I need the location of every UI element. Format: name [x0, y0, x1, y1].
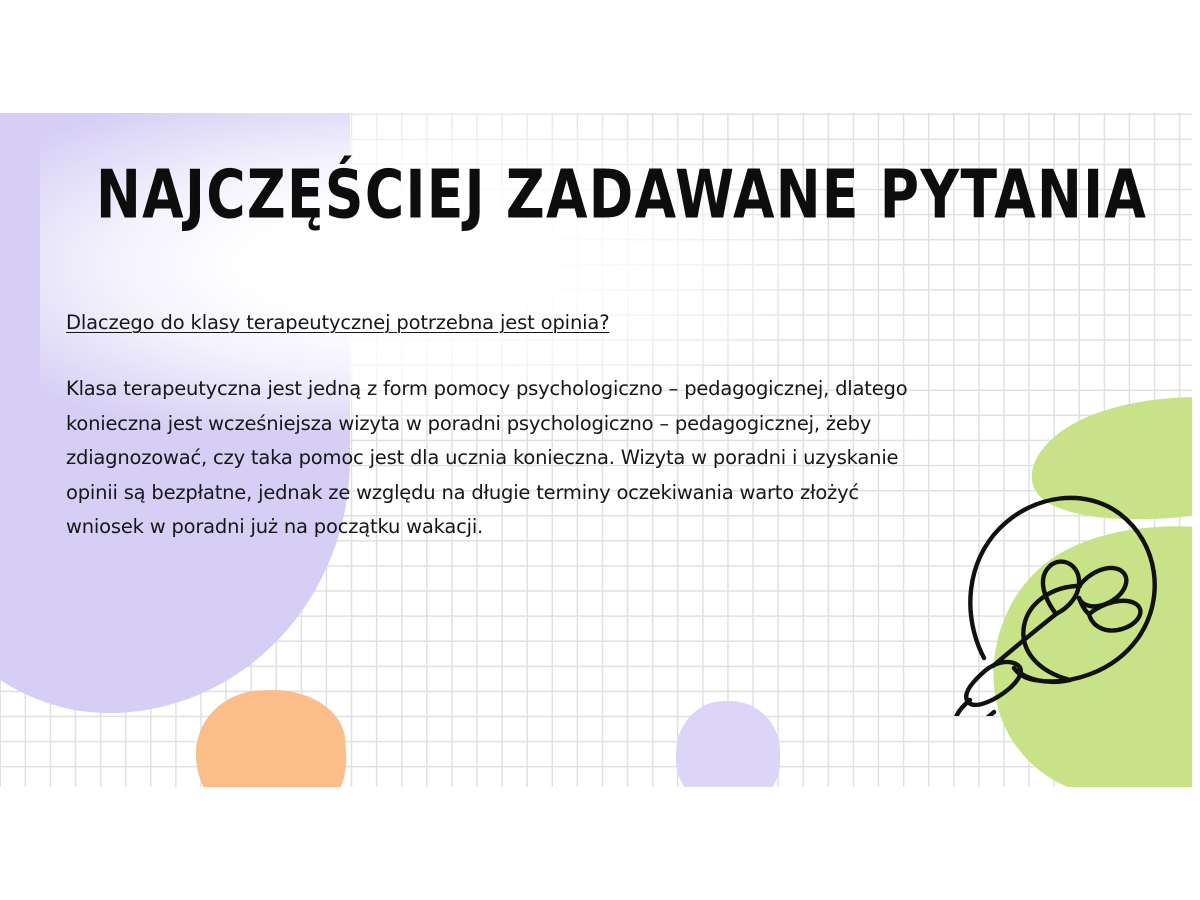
lightbulb-line-drawing [952, 466, 1162, 716]
question-heading: Dlaczego do klasy terapeutycznej potrzeb… [66, 310, 926, 336]
page-title: NAJCZĘŚCIEJ ZADAWANE PYTANIA [96, 162, 1036, 229]
answer-paragraph: Klasa terapeutyczna jest jedną z form po… [66, 372, 926, 545]
right-white-margin [1192, 0, 1200, 900]
bottom-white-margin [0, 787, 1200, 900]
faq-content: Dlaczego do klasy terapeutycznej potrzeb… [66, 310, 926, 545]
slide-canvas: NAJCZĘŚCIEJ ZADAWANE PYTANIA Dlaczego do… [0, 0, 1200, 900]
